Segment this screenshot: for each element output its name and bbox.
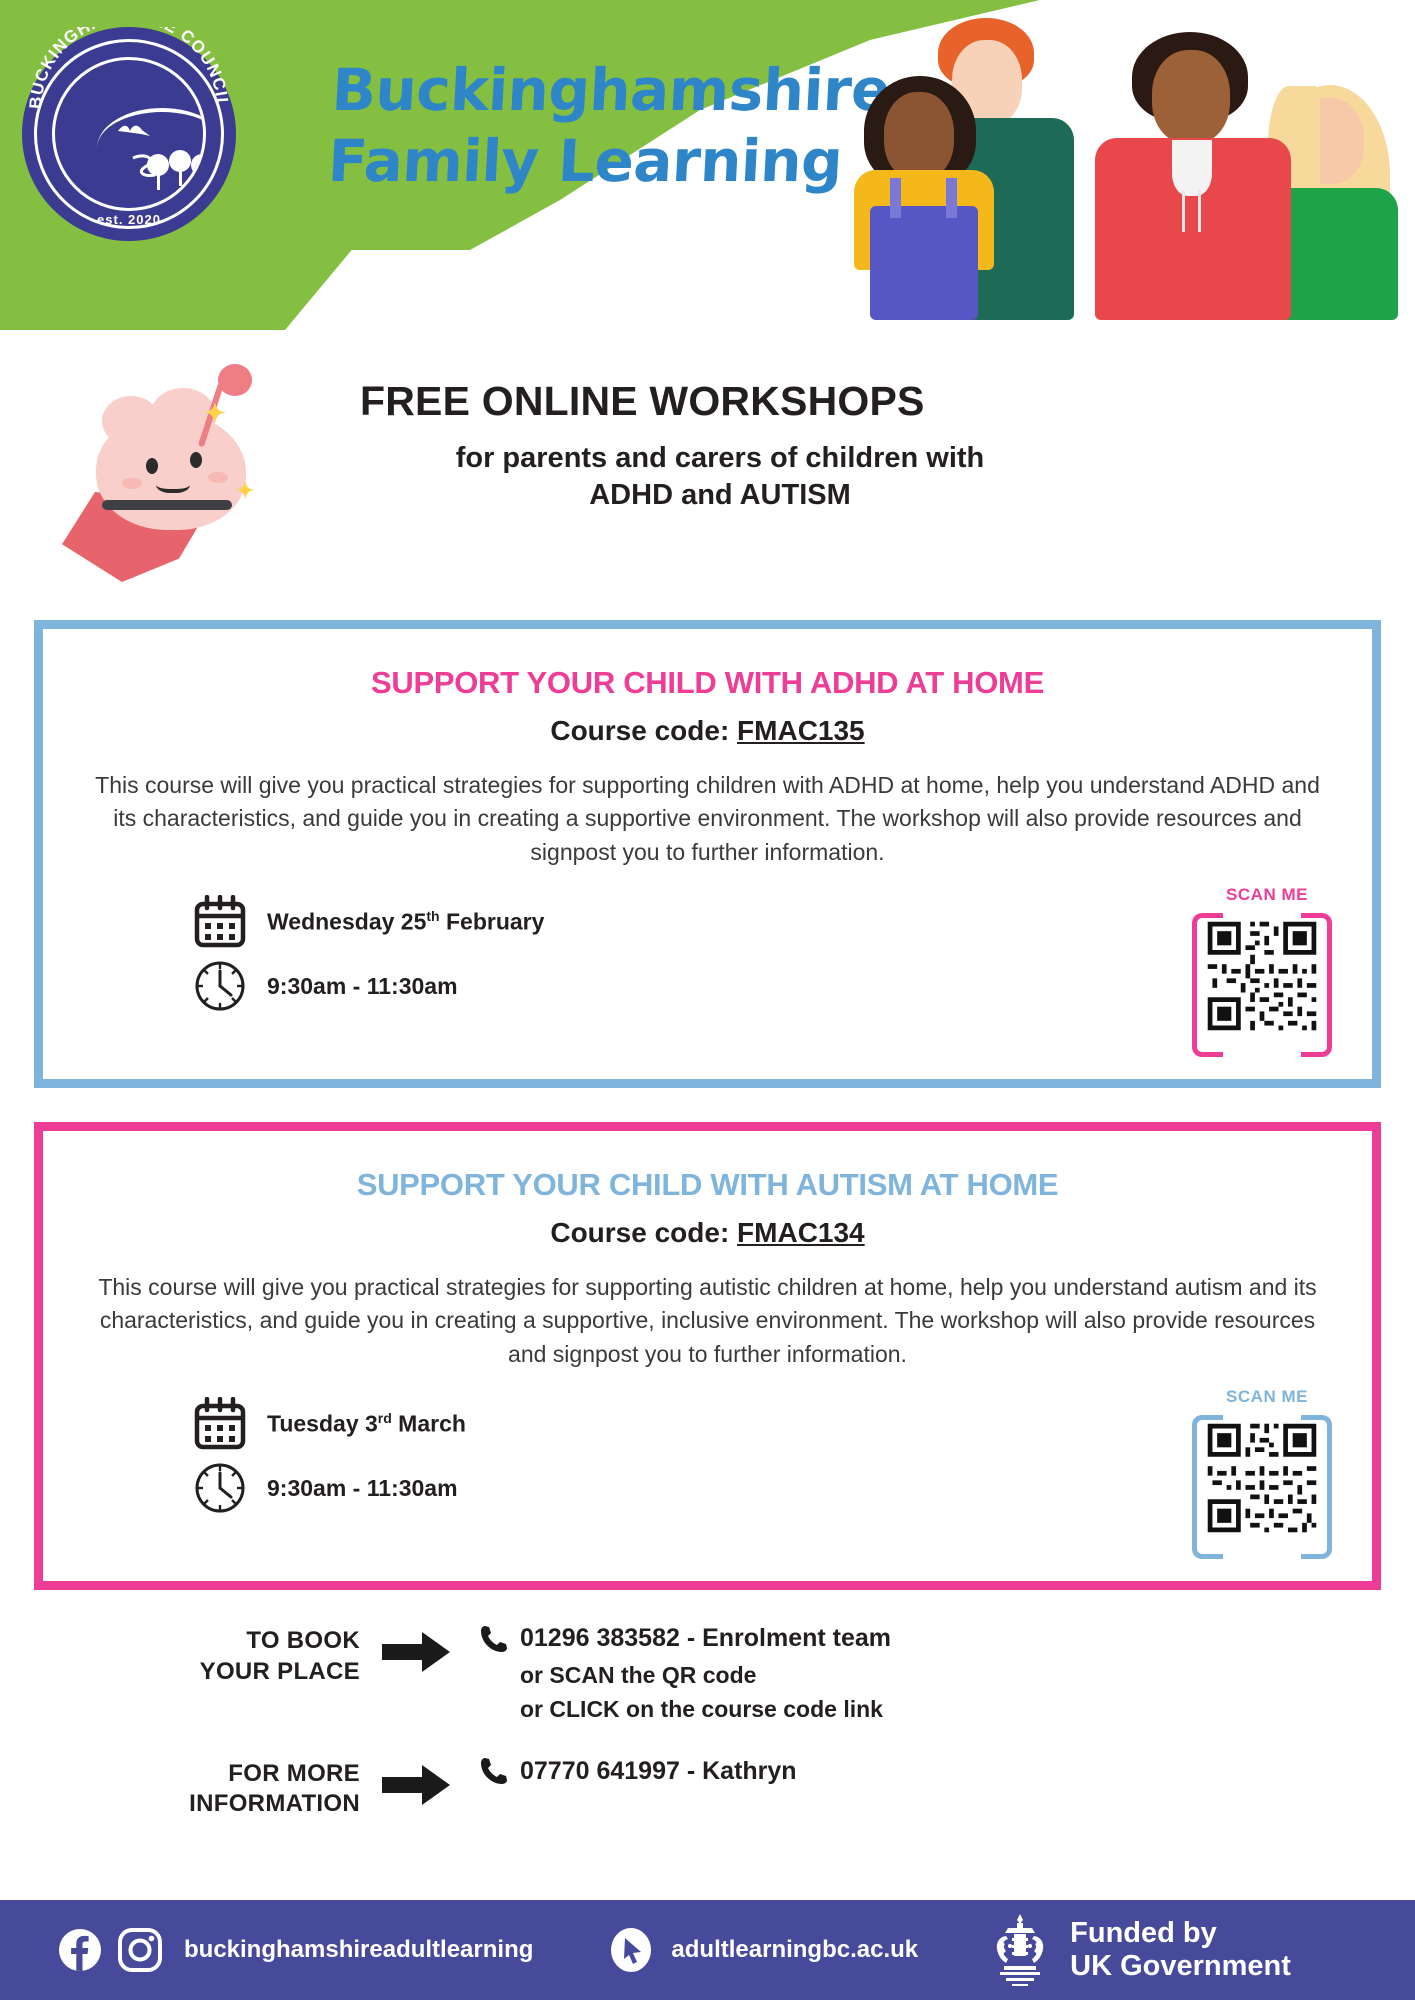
booking-phone-number: 01296 383582 - Enrolment team [520, 1620, 891, 1658]
info-row: FOR MORE INFORMATION 07770 641997 - Kath… [0, 1753, 1415, 1820]
sparkle-icon-2: ✦ [236, 480, 254, 502]
booking-label: TO BOOK YOUR PLACE [0, 1620, 360, 1687]
booking-alt-scan: or SCAN the QR code [520, 1658, 891, 1693]
qr-frame-autism [1192, 1409, 1332, 1559]
intro-section: ✦ ✦ FREE ONLINE WORKSHOPS for parents an… [0, 330, 1415, 620]
booking-label-line1: TO BOOK [0, 1626, 360, 1657]
clock-icon [193, 1461, 247, 1515]
page-header: BUCKINGHAMSHIRE COUNCIL est. 2020 Buckin… [0, 0, 1415, 330]
funded-line1: Funded by [1070, 1917, 1291, 1950]
course-date-month: February [440, 909, 545, 935]
arrow-right-icon [382, 1630, 452, 1674]
social-handle[interactable]: buckinghamshireadultlearning [184, 1936, 533, 1964]
brain-cheek-left [122, 478, 142, 489]
calendar-icon [193, 1397, 247, 1451]
buckinghamshire-council-logo: BUCKINGHAMSHIRE COUNCIL est. 2020 [22, 27, 236, 241]
logo-council-text: BUCKINGHAMSHIRE COUNCIL [22, 27, 236, 241]
page-subtitle: for parents and carers of children with … [360, 440, 1080, 514]
logo-established-text: est. 2020 [22, 212, 236, 227]
page-subtitle-line2: ADHD and AUTISM [360, 477, 1080, 514]
booking-contact: 01296 383582 - Enrolment team or SCAN th… [478, 1620, 891, 1727]
arrow-right-icon [382, 1763, 452, 1807]
uk-royal-crest-icon [984, 1912, 1056, 1988]
qr-frame-adhd [1192, 907, 1332, 1057]
brain-mascot-icon: ✦ ✦ [58, 352, 288, 562]
page-subtitle-line1: for parents and carers of children with [360, 440, 1080, 477]
course-date-ordinal: rd [378, 1410, 392, 1426]
brain-fist [218, 364, 252, 396]
facebook-icon[interactable] [58, 1928, 102, 1972]
course-time-adhd: 9:30am - 11:30am [267, 973, 458, 1000]
course-description-adhd: This course will give you practical stra… [93, 769, 1323, 869]
qr-scan-label-autism: SCAN ME [1192, 1387, 1342, 1407]
course-details-autism: Tuesday 3rd March 9:30am - 11:30am SCAN … [43, 1397, 1372, 1557]
page-footer: buckinghamshireadultlearning adultlearni… [0, 1900, 1415, 2000]
brand-title-line1: Buckinghamshire [330, 55, 892, 126]
course-code-row-autism: Course code: FMAC134 [43, 1217, 1372, 1249]
info-label-line2: INFORMATION [0, 1789, 360, 1820]
course-date-adhd: Wednesday 25th February [267, 908, 544, 936]
course-date-month: March [392, 1411, 466, 1437]
course-time-autism: 9:30am - 11:30am [267, 1475, 458, 1502]
course-card-autism: SUPPORT YOUR CHILD WITH AUTISM AT HOME C… [34, 1122, 1381, 1590]
page-title: FREE ONLINE WORKSHOPS [360, 378, 925, 425]
booking-label-line2: YOUR PLACE [0, 1657, 360, 1688]
sparkle-icon-1: ✦ [204, 400, 226, 426]
course-description-autism: This course will give you practical stra… [93, 1271, 1323, 1371]
course-date-ordinal: th [426, 908, 439, 924]
info-phone-number: 07770 641997 - Kathryn [520, 1753, 797, 1791]
course-code-row-adhd: Course code: FMAC135 [43, 715, 1372, 747]
qr-block-autism[interactable]: SCAN ME [1192, 1387, 1342, 1559]
info-label: FOR MORE INFORMATION [0, 1753, 360, 1820]
website-url[interactable]: adultlearningbc.ac.uk [671, 1936, 918, 1964]
booking-phone-line[interactable]: 01296 383582 - Enrolment team [478, 1620, 891, 1658]
cursor-click-icon[interactable] [609, 1926, 653, 1974]
instagram-icon[interactable] [118, 1928, 162, 1972]
course-code-label: Course code: [550, 1217, 737, 1248]
booking-alt-click: or CLICK on the course code link [520, 1692, 891, 1727]
course-details-adhd: Wednesday 25th February 9:30am - 11:30am… [43, 895, 1372, 1055]
funded-by-text: Funded by UK Government [1070, 1917, 1291, 1983]
course-code-link-autism[interactable]: FMAC134 [737, 1217, 865, 1248]
course-date-text: Wednesday 25 [267, 909, 426, 935]
course-card-adhd: SUPPORT YOUR CHILD WITH ADHD AT HOME Cou… [34, 620, 1381, 1088]
phone-icon [478, 1755, 510, 1787]
info-phone-line[interactable]: 07770 641997 - Kathryn [478, 1753, 797, 1791]
course-code-link-adhd[interactable]: FMAC135 [737, 715, 865, 746]
course-code-label: Course code: [550, 715, 737, 746]
course-title-adhd: SUPPORT YOUR CHILD WITH ADHD AT HOME [43, 665, 1372, 701]
brain-smile [156, 472, 190, 493]
course-title-autism: SUPPORT YOUR CHILD WITH AUTISM AT HOME [43, 1167, 1372, 1203]
brain-cheek-right [208, 472, 228, 483]
booking-section: TO BOOK YOUR PLACE 01296 383582 - Enrolm… [0, 1620, 1415, 1850]
calendar-icon [193, 895, 247, 949]
clock-icon [193, 959, 247, 1013]
booking-alternatives: or SCAN the QR code or CLICK on the cour… [520, 1658, 891, 1727]
qr-block-adhd[interactable]: SCAN ME [1192, 885, 1342, 1057]
brain-eye-right [190, 452, 202, 468]
brand-title: Buckinghamshire Family Learning [326, 55, 892, 197]
info-contact: 07770 641997 - Kathryn [478, 1753, 797, 1791]
young-people-illustration [900, 10, 1400, 320]
phone-icon [478, 1623, 510, 1655]
brain-stem-band [102, 500, 232, 510]
info-label-line1: FOR MORE [0, 1759, 360, 1790]
course-date-autism: Tuesday 3rd March [267, 1410, 466, 1438]
brand-title-line2: Family Learning [326, 126, 888, 197]
course-date-text: Tuesday 3 [267, 1411, 378, 1437]
qr-scan-label-adhd: SCAN ME [1192, 885, 1342, 905]
booking-row: TO BOOK YOUR PLACE 01296 383582 - Enrolm… [0, 1620, 1415, 1727]
svg-text:BUCKINGHAMSHIRE COUNCIL: BUCKINGHAMSHIRE COUNCIL [26, 27, 232, 110]
funded-line2: UK Government [1070, 1950, 1291, 1983]
